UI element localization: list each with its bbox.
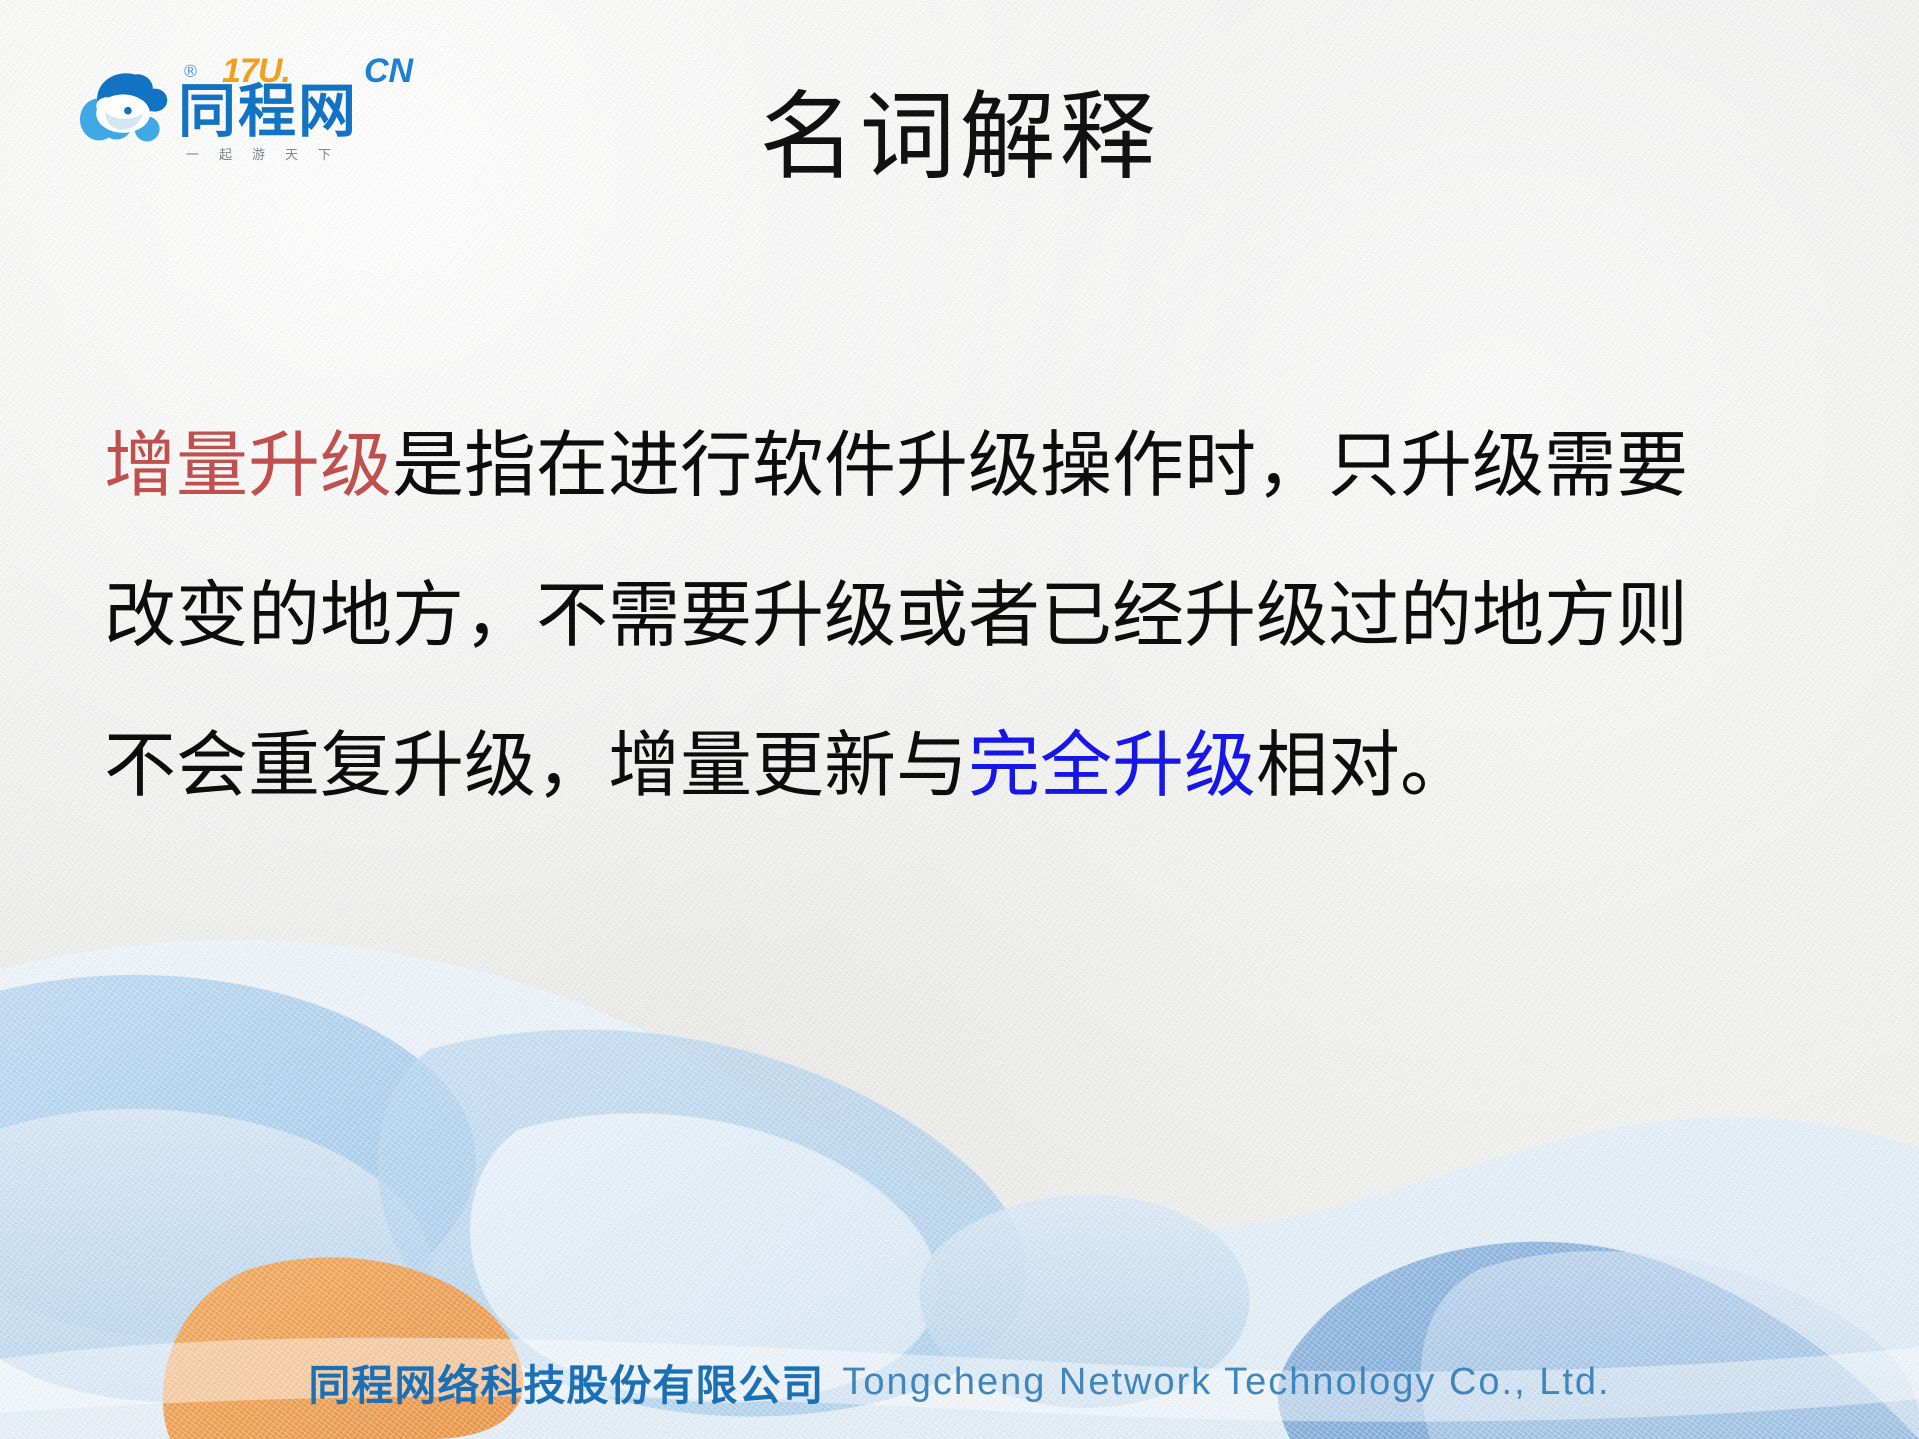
- footer-company-name-en: Tongcheng Network Technology Co., Ltd.: [842, 1361, 1610, 1403]
- slide-footer: 同程网络科技股份有限公司Tongcheng Network Technology…: [0, 1352, 1919, 1413]
- body-term-full-upgrade: 完全升级: [968, 723, 1256, 807]
- slide-title: 名词解释: [0, 82, 1919, 192]
- body-line-2-text: 改变的地方，不需要升级或者已经升级过的地方则: [104, 573, 1688, 657]
- body-line-3-lead: 不会重复升级，增量更新与: [104, 723, 968, 807]
- body-line-3-tail: 相对。: [1256, 723, 1472, 807]
- decorative-blobs: [0, 799, 1919, 1439]
- footer-company-name-cn: 同程网络科技股份有限公司: [308, 1361, 824, 1410]
- body-line-1: 增量升级是指在进行软件升级操作时，只升级需要: [104, 390, 1834, 540]
- body-line-2: 改变的地方，不需要升级或者已经升级过的地方则: [104, 540, 1834, 690]
- presentation-slide: ® 17U. CN 同程网 一起游天下 名词解释 增量升级是指在进行软件升级操作…: [0, 0, 1919, 1439]
- body-term-incremental-upgrade: 增量升级: [104, 423, 392, 507]
- body-line-1-rest: 是指在进行软件升级操作时，只升级需要: [392, 423, 1688, 507]
- slide-body-text: 增量升级是指在进行软件升级操作时，只升级需要 改变的地方，不需要升级或者已经升级…: [104, 390, 1834, 840]
- body-line-3: 不会重复升级，增量更新与完全升级相对。: [104, 690, 1834, 840]
